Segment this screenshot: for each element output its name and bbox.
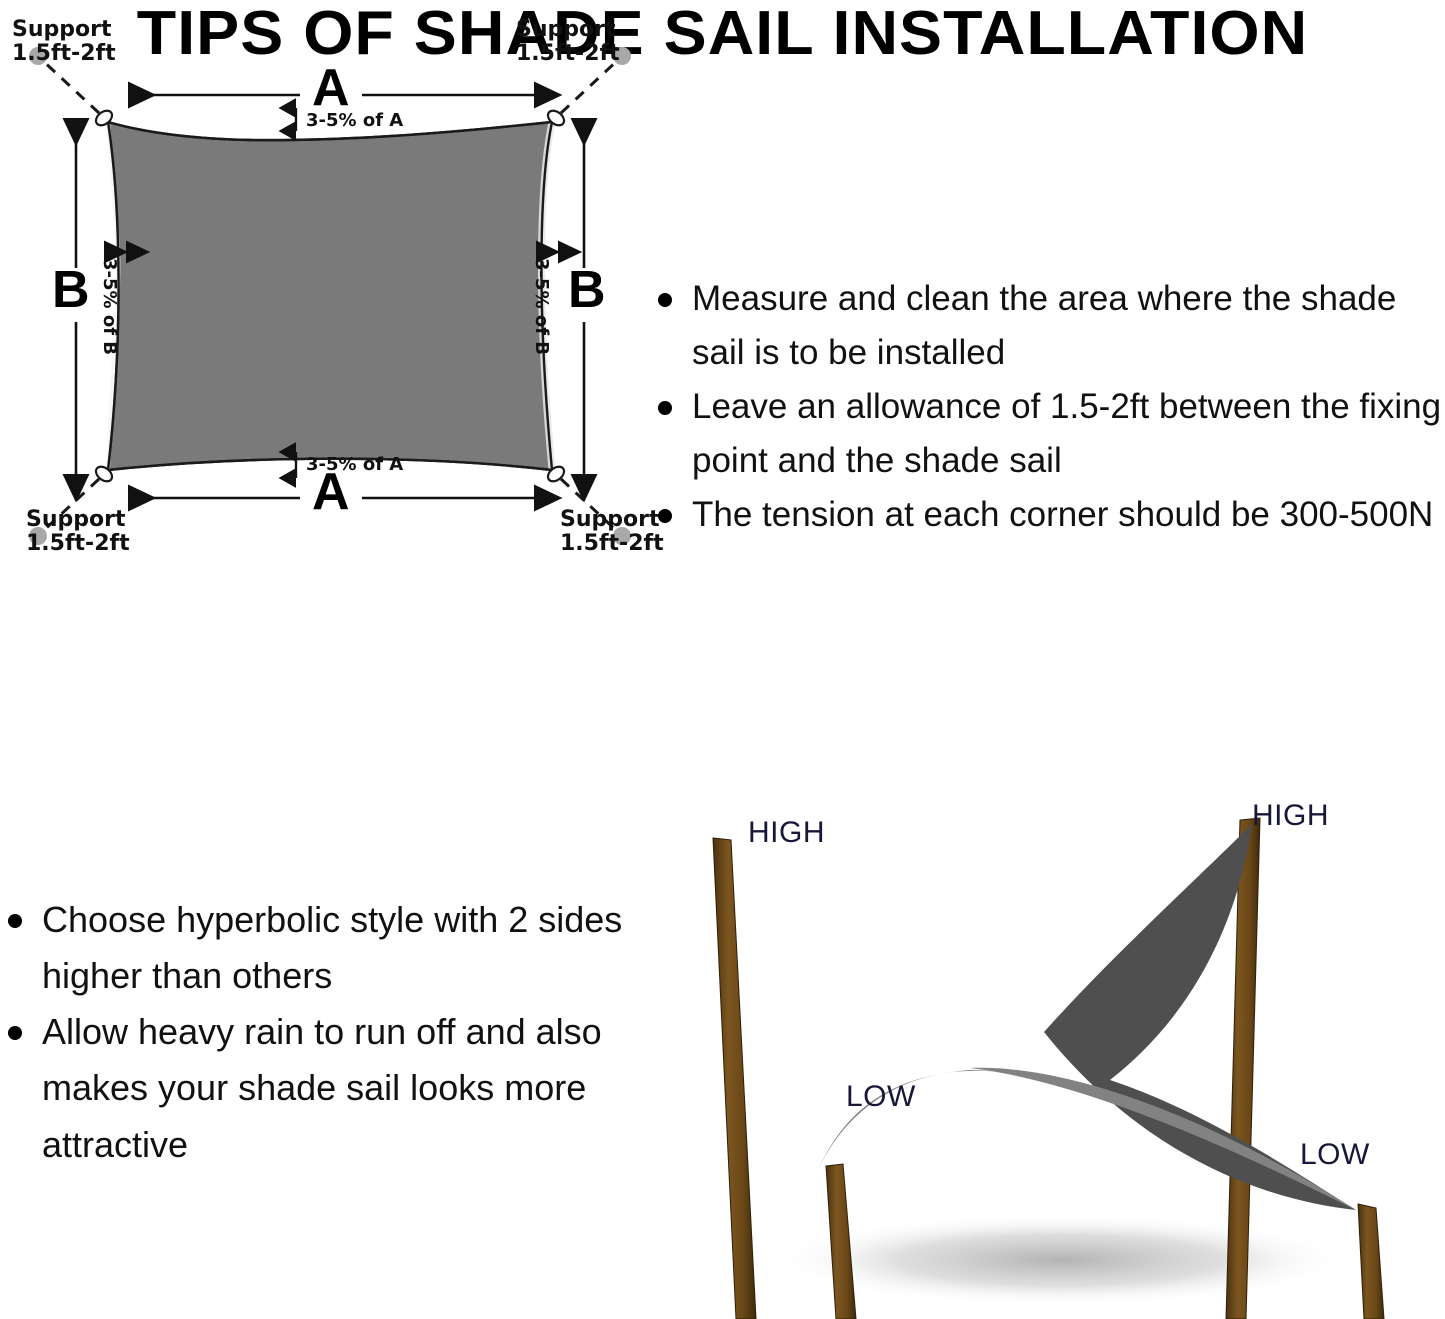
sail-surface-dark <box>728 824 1356 1210</box>
label-low-right: LOW <box>1300 1138 1370 1172</box>
hyperbolic-sail-svg <box>640 780 1445 1319</box>
support-label-bottom-left: Support 1.5ft-2ft <box>26 508 130 556</box>
dash-top-left <box>42 60 99 113</box>
support-label-bottom-right: Support 1.5ft-2ft <box>560 508 664 556</box>
dimension-letter-a-top: A <box>312 62 350 114</box>
support-label-top-left-line2: 1.5ft-2ft <box>12 42 116 66</box>
hyperbolic-sail-diagram: HIGH HIGH LOW LOW <box>640 780 1445 1319</box>
shade-sail-shape <box>108 122 552 470</box>
label-high-right: HIGH <box>1252 799 1329 833</box>
rectangular-sail-diagram: Support 1.5ft-2ft Support 1.5ft-2ft Supp… <box>0 0 650 570</box>
support-label-bottom-right-line1: Support <box>560 508 664 532</box>
label-high-left: HIGH <box>748 816 825 850</box>
list-item: Measure and clean the area where the sha… <box>650 272 1445 380</box>
support-label-bottom-left-line2: 1.5ft-2ft <box>26 532 130 556</box>
curvature-label-left: 3-5% of B <box>100 258 118 355</box>
pole-low-right <box>1358 1204 1384 1319</box>
support-label-top-left: Support 1.5ft-2ft <box>12 18 116 66</box>
installation-tips-list: Measure and clean the area where the sha… <box>650 272 1445 541</box>
list-item: Leave an allowance of 1.5-2ft between th… <box>650 380 1445 488</box>
pole-high-left <box>713 838 756 1319</box>
list-item: Allow heavy rain to run off and also mak… <box>0 1004 625 1172</box>
ground-shadow <box>770 1214 1350 1306</box>
support-label-top-right-line1: Support <box>516 18 620 42</box>
curvature-label-right: 3-5% of B <box>532 258 550 355</box>
curvature-label-bottom: 3-5% of A <box>306 456 403 474</box>
dimension-letter-b-right: B <box>568 264 606 316</box>
list-item: Choose hyperbolic style with 2 sides hig… <box>0 892 625 1004</box>
label-low-left: LOW <box>846 1080 916 1114</box>
support-label-bottom-left-line1: Support <box>26 508 130 532</box>
curvature-label-top: 3-5% of A <box>306 112 403 130</box>
dash-top-right <box>561 60 618 113</box>
list-item: The tension at each corner should be 300… <box>650 488 1445 542</box>
support-label-bottom-right-line2: 1.5ft-2ft <box>560 532 664 556</box>
support-label-top-left-line1: Support <box>12 18 116 42</box>
hyperbolic-tips-list: Choose hyperbolic style with 2 sides hig… <box>0 892 625 1173</box>
dimension-letter-b-left: B <box>52 264 90 316</box>
support-label-top-right-line2: 1.5ft-2ft <box>516 42 620 66</box>
support-label-top-right: Support 1.5ft-2ft <box>516 18 620 66</box>
